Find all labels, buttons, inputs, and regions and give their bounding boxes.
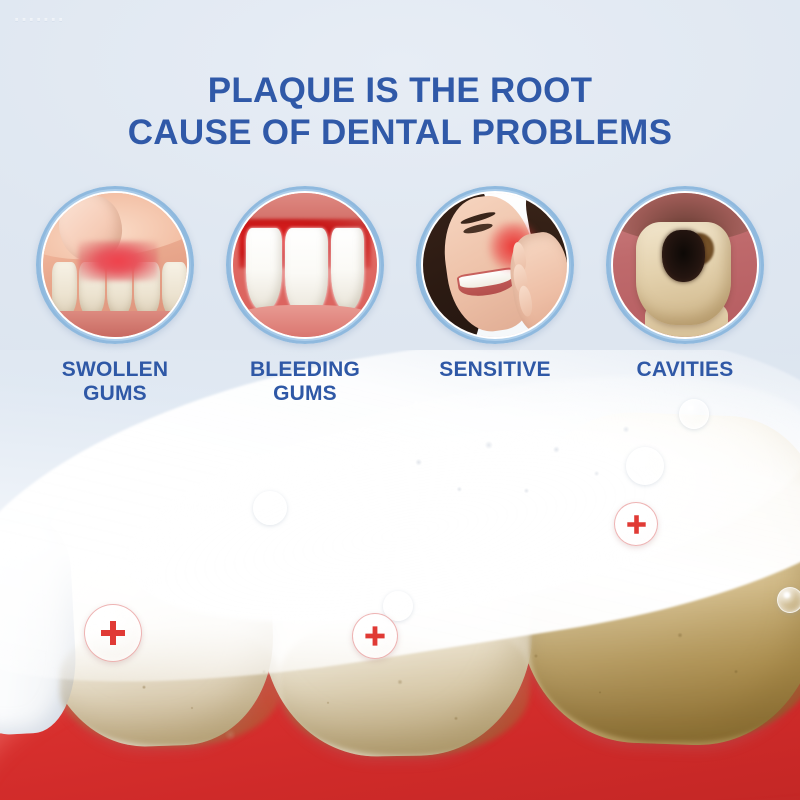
symptom-label-bleeding-gums: BLEEDING GUMS	[250, 358, 360, 407]
red-cross-icon	[98, 618, 128, 648]
symptom-item-swollen-gums[interactable]: SWOLLEN GUMS	[35, 186, 195, 407]
photo-cavities	[613, 193, 757, 337]
page-title: PLAQUE IS THE ROOT CAUSE OF DENTAL PROBL…	[0, 70, 800, 153]
photo-frame	[41, 191, 189, 339]
red-cross-icon	[625, 513, 648, 536]
symptom-list: SWOLLEN GUMS BLEEDING GUMS	[0, 186, 800, 407]
foam-bubble	[253, 491, 287, 525]
photo-swollen-gums	[43, 193, 187, 337]
symptom-item-cavities[interactable]: CAVITIES	[605, 186, 765, 382]
symptom-label-swollen-gums: SWOLLEN GUMS	[62, 358, 168, 407]
watermark: ·······	[14, 10, 65, 32]
foam-bubble	[777, 587, 800, 613]
red-cross-badge[interactable]	[84, 604, 142, 662]
infographic-poster: ······· PLAQUE IS THE ROOT CAUSE OF DENT…	[0, 0, 800, 800]
red-cross-badge[interactable]	[614, 502, 658, 546]
symptom-photo-bleeding-gums[interactable]	[226, 186, 384, 344]
symptom-photo-sensitive[interactable]	[416, 186, 574, 344]
symptom-label-cavities: CAVITIES	[637, 358, 734, 382]
photo-frame	[231, 191, 379, 339]
symptom-item-bleeding-gums[interactable]: BLEEDING GUMS	[225, 186, 385, 407]
red-cross-badge[interactable]	[352, 613, 398, 659]
photo-frame	[611, 191, 759, 339]
photo-sensitive	[423, 193, 567, 337]
headline-line-2: CAUSE OF DENTAL PROBLEMS	[0, 112, 800, 154]
symptom-item-sensitive[interactable]: SENSITIVE	[415, 186, 575, 382]
symptom-photo-swollen-gums[interactable]	[36, 186, 194, 344]
photo-bleeding-gums	[233, 193, 377, 337]
red-cross-icon	[363, 624, 387, 648]
foam-bubble	[626, 447, 664, 485]
headline-line-1: PLAQUE IS THE ROOT	[208, 71, 593, 110]
symptom-label-sensitive: SENSITIVE	[439, 358, 551, 382]
symptom-photo-cavities[interactable]	[606, 186, 764, 344]
photo-frame	[421, 191, 569, 339]
